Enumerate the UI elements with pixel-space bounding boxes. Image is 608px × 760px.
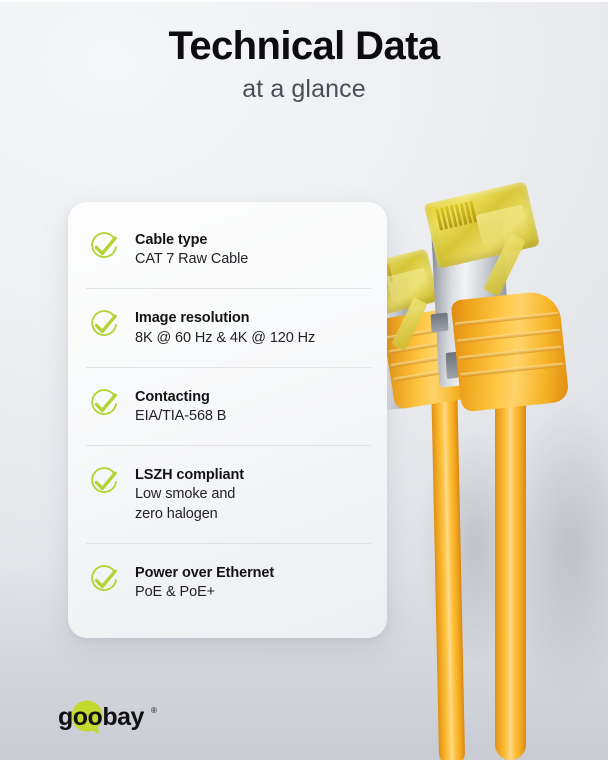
spec-title: Cable type	[135, 231, 248, 250]
spec-divider	[86, 543, 371, 544]
logo-wordmark: goobay	[58, 703, 144, 731]
page-subtitle: at a glance	[0, 75, 608, 104]
strain-relief-boot-front	[450, 290, 569, 413]
spec-divider	[86, 288, 371, 289]
check-circle-icon	[87, 308, 121, 342]
check-circle-icon	[87, 563, 121, 597]
boot-rib	[458, 346, 562, 361]
connector-head-front	[424, 181, 540, 269]
boot-rib	[455, 312, 559, 327]
check-circle-icon	[87, 230, 121, 264]
spec-item-image-resolution: Image resolution 8K @ 60 Hz & 4K @ 120 H…	[68, 308, 387, 347]
logo-trademark: ®	[151, 706, 157, 715]
page-title: Technical Data	[0, 24, 608, 69]
cable-cord-front	[495, 360, 526, 760]
shield-notch	[431, 313, 449, 333]
boot-rib	[460, 362, 564, 377]
boot-rib	[457, 329, 561, 344]
spec-description: CAT 7 Raw Cable	[135, 250, 248, 269]
spec-item-contacting: Contacting EIA/TIA-568 B	[68, 387, 387, 426]
header: Technical Data at a glance	[0, 24, 608, 104]
spec-title: Power over Ethernet	[135, 564, 274, 583]
spec-item-power-over-ethernet: Power over Ethernet PoE & PoE+	[68, 563, 387, 602]
spec-title: LSZH compliant	[135, 466, 244, 485]
spec-description: PoE & PoE+	[135, 583, 274, 602]
spec-divider	[86, 367, 371, 368]
spec-title: Image resolution	[135, 309, 315, 328]
goobay-logo: goobay ®	[44, 696, 164, 736]
spec-divider	[86, 445, 371, 446]
check-circle-icon	[87, 387, 121, 421]
top-hairline	[0, 0, 608, 2]
spec-description: 8K @ 60 Hz & 4K @ 120 Hz	[135, 329, 315, 348]
spec-description: Low smoke and zero halogen	[135, 485, 244, 524]
gold-pin-bank	[435, 201, 477, 231]
spec-item-cable-type: Cable type CAT 7 Raw Cable	[68, 230, 387, 269]
spec-title: Contacting	[135, 388, 226, 407]
check-circle-icon	[87, 465, 121, 499]
spec-card: Cable type CAT 7 Raw Cable Image resolut…	[68, 202, 387, 638]
plug-window	[386, 267, 431, 302]
spec-description: EIA/TIA-568 B	[135, 407, 226, 426]
spec-item-lszh-compliant: LSZH compliant Low smoke and zero haloge…	[68, 465, 387, 524]
